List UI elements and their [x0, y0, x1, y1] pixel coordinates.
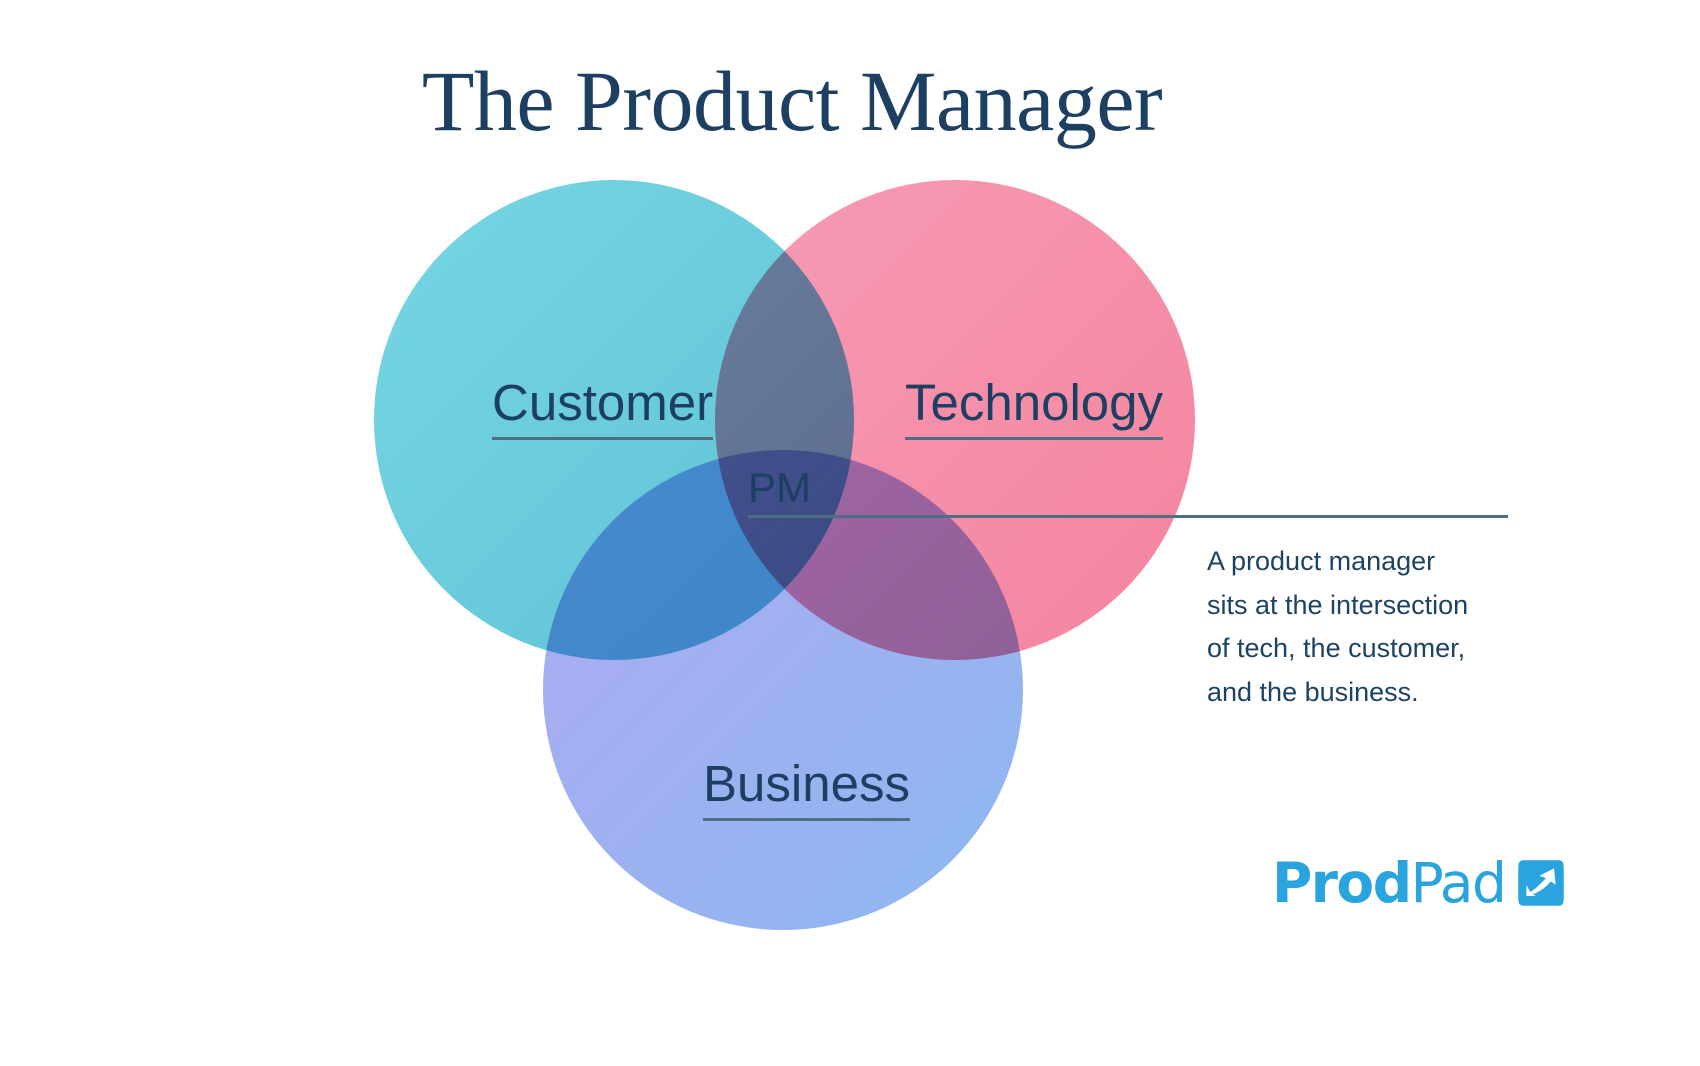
pm-connector-rule	[748, 515, 1508, 518]
venn-circle-business	[543, 450, 1023, 930]
venn-label-technology: Technology	[905, 377, 1163, 440]
prodpad-logo: ProdPad	[1272, 852, 1567, 914]
venn-label-customer-text: Customer	[492, 377, 713, 440]
caption-block: A product manager sits at the intersecti…	[1207, 540, 1517, 715]
caption-line: sits at the intersection	[1207, 584, 1517, 628]
venn-label-pm: PM	[748, 467, 811, 509]
venn-label-pm-text: PM	[748, 467, 811, 509]
prodpad-wordmark: ProdPad	[1272, 856, 1505, 911]
venn-label-business-text: Business	[703, 758, 910, 821]
prodpad-wordmark-light: Pad	[1411, 851, 1506, 915]
venn-label-customer: Customer	[492, 377, 713, 440]
diagram-page: The Product Manager	[0, 0, 1700, 1066]
venn-label-business: Business	[703, 758, 910, 821]
caption-line: A product manager	[1207, 540, 1517, 584]
prodpad-wordmark-bold: Prod	[1272, 851, 1411, 915]
prodpad-arrow-icon	[1515, 857, 1567, 909]
caption-line: of tech, the customer,	[1207, 627, 1517, 671]
venn-label-technology-text: Technology	[905, 377, 1163, 440]
caption-line: and the business.	[1207, 671, 1517, 715]
